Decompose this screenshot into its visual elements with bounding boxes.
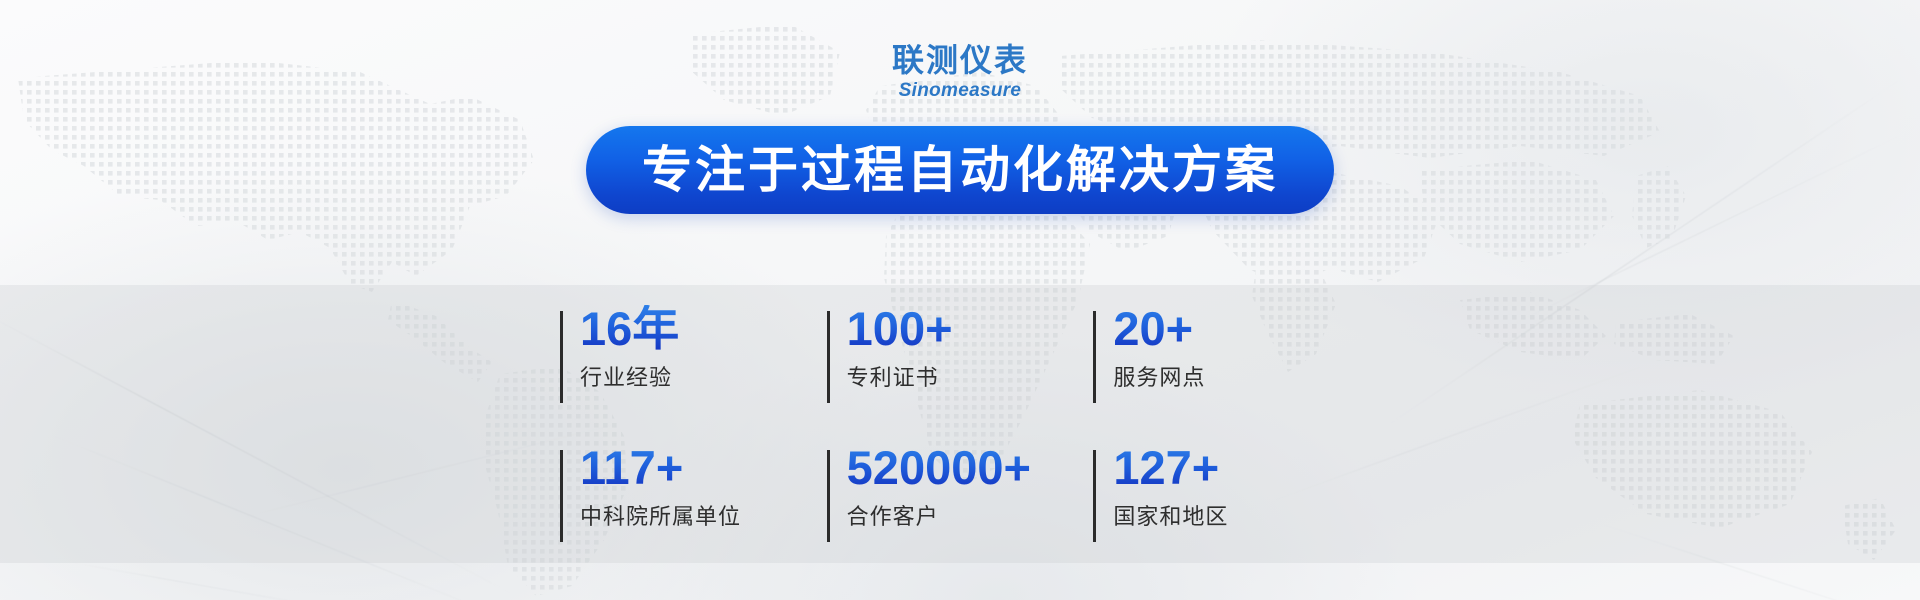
stat-label: 专利证书 — [847, 367, 953, 389]
stat-value: 127+ — [1113, 444, 1228, 493]
stat-body: 127+ 国家和地区 — [1096, 444, 1228, 528]
stat-item-patents: 100+ 专利证书 — [827, 305, 1094, 444]
stat-item-years-experience: 16年 行业经验 — [560, 305, 827, 444]
stat-body: 16年 行业经验 — [563, 305, 679, 389]
headline-text: 专注于过程自动化解决方案 — [642, 145, 1278, 195]
stat-body: 100+ 专利证书 — [830, 305, 953, 389]
stat-label: 行业经验 — [580, 367, 679, 389]
promo-banner: 联测仪表 Sinomeasure 专注于过程自动化解决方案 16年 行业经验 1… — [0, 0, 1920, 600]
stat-item-service-outlets: 20+ 服务网点 — [1093, 305, 1360, 444]
stat-item-countries: 127+ 国家和地区 — [1093, 444, 1360, 583]
stat-body: 20+ 服务网点 — [1096, 305, 1205, 389]
stat-label: 中科院所属单位 — [580, 506, 741, 528]
brand-logo: 联测仪表 Sinomeasure — [0, 44, 1920, 100]
stat-value: 520000+ — [847, 444, 1031, 493]
stats-grid: 16年 行业经验 100+ 专利证书 20+ 服务网点 — [560, 305, 1360, 583]
stat-value: 16年 — [580, 305, 679, 354]
stats-row: 117+ 中科院所属单位 520000+ 合作客户 127+ 国家和地区 — [560, 444, 1360, 583]
logo-chinese-name: 联测仪表 — [0, 44, 1920, 76]
stat-label: 合作客户 — [847, 506, 1031, 528]
stat-body: 520000+ 合作客户 — [830, 444, 1031, 528]
stat-value: 20+ — [1113, 305, 1205, 354]
stat-value: 117+ — [580, 444, 741, 493]
logo-english-name: Sinomeasure — [0, 81, 1920, 100]
stat-item-customers: 520000+ 合作客户 — [827, 444, 1094, 583]
stats-row: 16年 行业经验 100+ 专利证书 20+ 服务网点 — [560, 305, 1360, 444]
stat-body: 117+ 中科院所属单位 — [563, 444, 741, 528]
stat-label: 服务网点 — [1113, 367, 1205, 389]
stat-value: 100+ — [847, 305, 953, 354]
headline-container: 专注于过程自动化解决方案 — [0, 126, 1920, 214]
headline-pill: 专注于过程自动化解决方案 — [586, 126, 1334, 214]
stat-item-cas-units: 117+ 中科院所属单位 — [560, 444, 827, 583]
stat-label: 国家和地区 — [1113, 506, 1228, 528]
